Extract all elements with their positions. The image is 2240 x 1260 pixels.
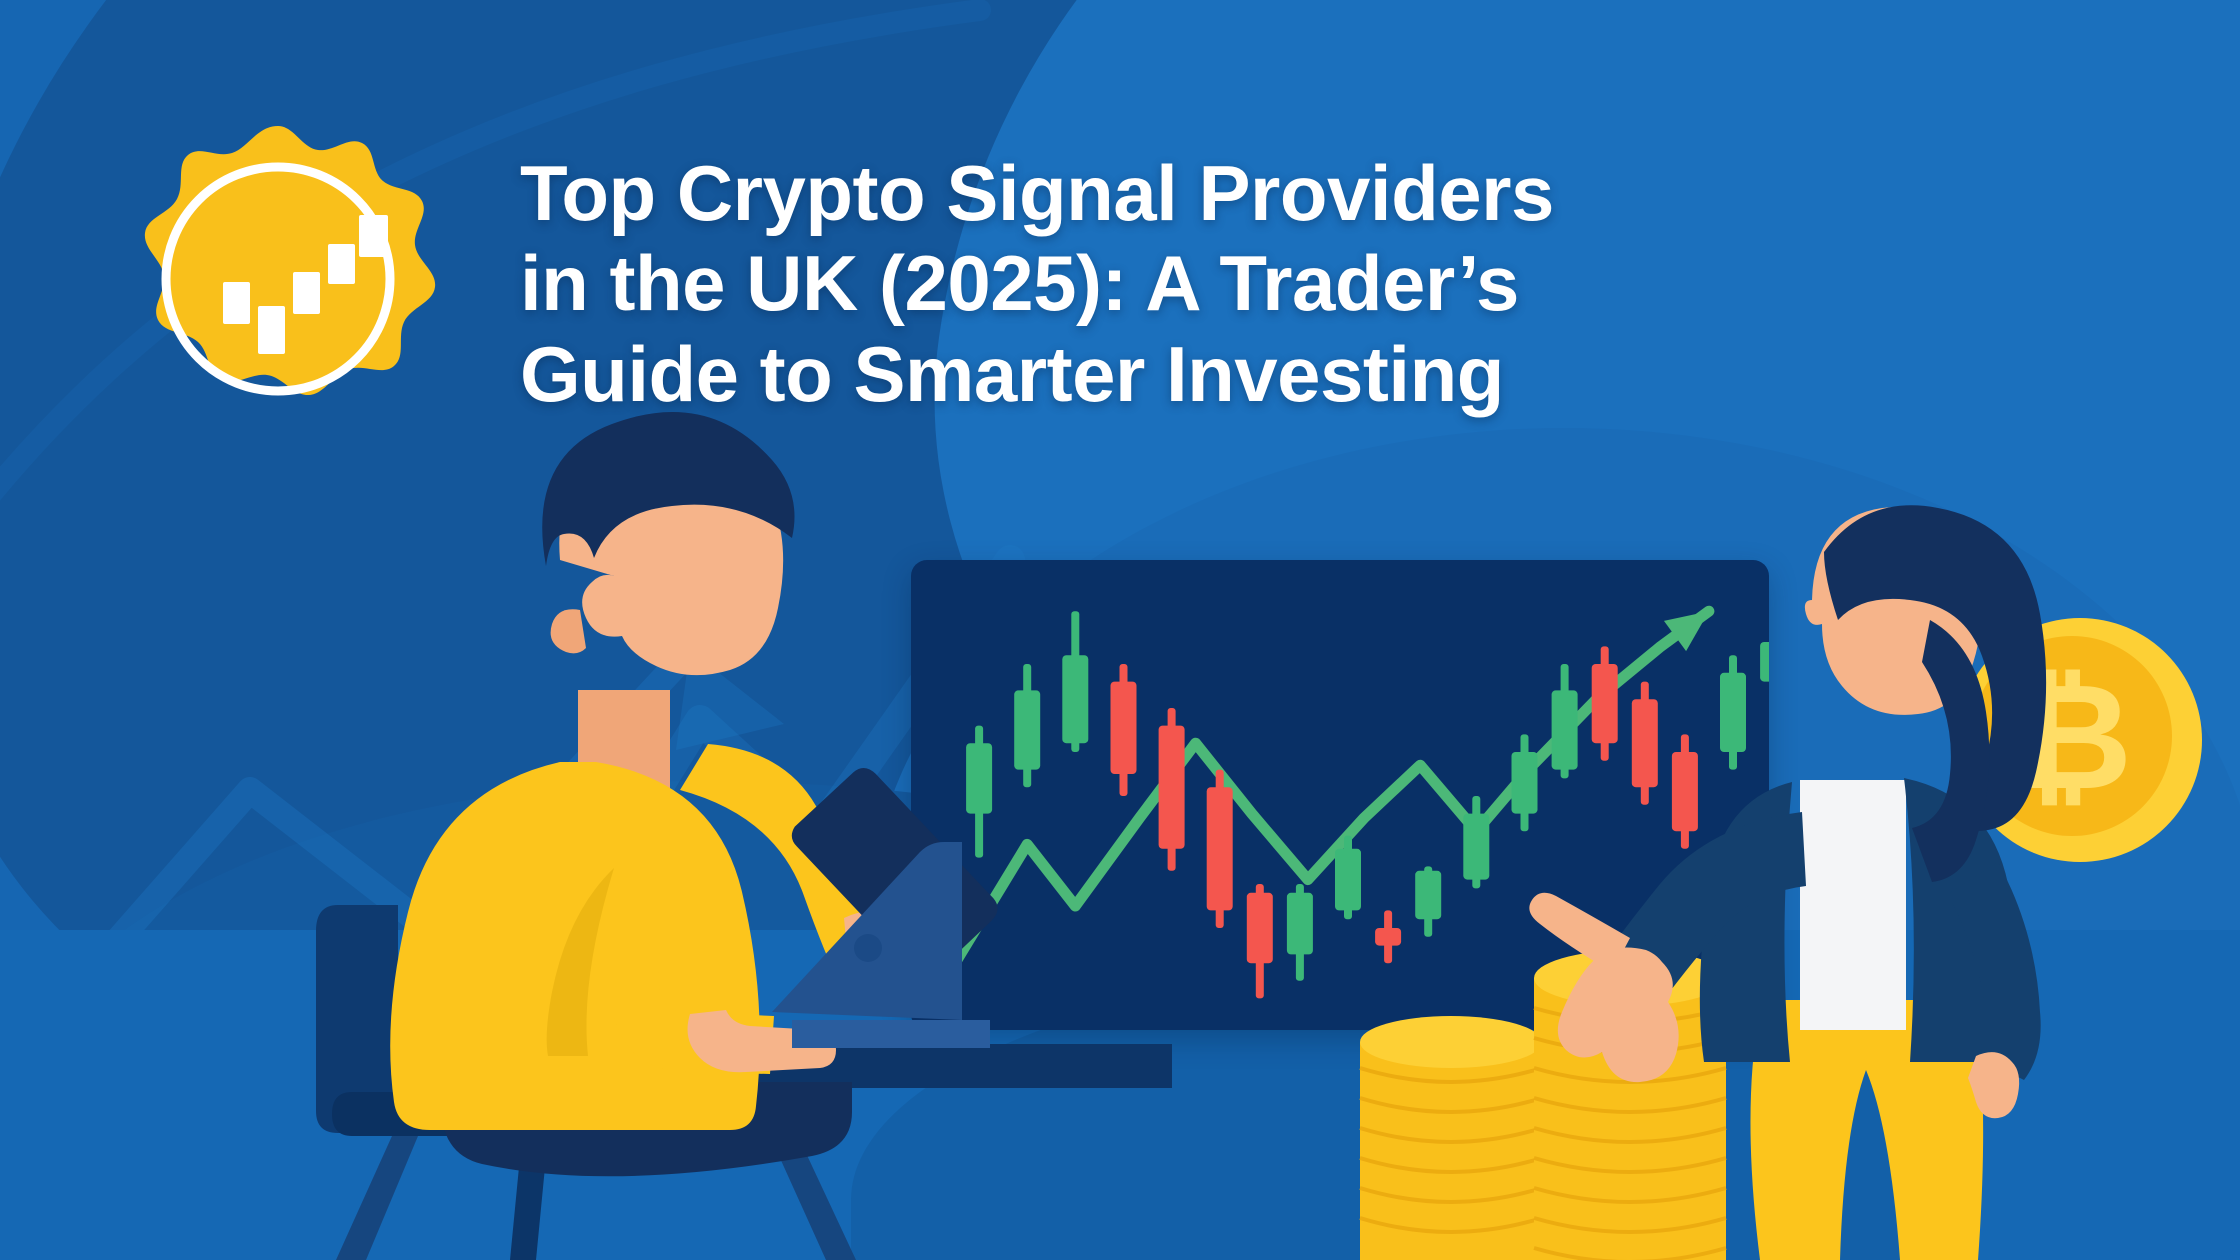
candlestick-down: [1632, 682, 1658, 805]
candle-body: [1335, 849, 1361, 911]
candlestick-down: [1111, 664, 1137, 796]
candle-body: [1287, 893, 1313, 955]
candlestick-down: [1159, 708, 1185, 871]
candlestick-up: [966, 726, 992, 858]
candlestick-up: [1552, 664, 1578, 778]
candlestick-up: [1062, 611, 1088, 752]
candle-body: [1062, 655, 1088, 743]
candle-body: [1375, 928, 1401, 946]
candlestick-up: [1720, 655, 1746, 769]
candle-body: [1592, 664, 1618, 743]
banner-canvas: Top Crypto Signal Providers in the UK (2…: [0, 0, 2240, 1260]
title-line-3: Guide to Smarter Investing: [520, 329, 2080, 419]
candlestick-up: [1512, 734, 1538, 831]
candlestick-down: [1375, 910, 1401, 963]
candle-body: [1512, 752, 1538, 814]
candlestick-up: [1760, 629, 1769, 699]
candlestick-chart-board: [911, 560, 1769, 1030]
candle-body: [1159, 726, 1185, 849]
candlestick-up: [1415, 866, 1441, 936]
candle-body: [1207, 787, 1233, 910]
candlestick-down: [1207, 770, 1233, 928]
candle-body: [1247, 893, 1273, 963]
title-line-2: in the UK (2025): A Trader’s: [520, 238, 2080, 328]
candle-body: [1415, 871, 1441, 919]
candle-body: [1463, 814, 1489, 880]
sunburst-candlestick-badge: [92, 120, 464, 438]
candlestick-up: [1014, 664, 1040, 787]
candle-body: [1632, 699, 1658, 787]
candle-body: [1760, 642, 1769, 682]
candle-body: [966, 743, 992, 813]
candle-body: [1111, 682, 1137, 774]
candle-body: [1720, 673, 1746, 752]
candle-body: [1672, 752, 1698, 831]
candlestick-up: [1463, 796, 1489, 888]
candlestick-chart: [911, 560, 1769, 1030]
candle-body: [1552, 690, 1578, 769]
candlestick-down: [1247, 884, 1273, 998]
candlestick-series: [966, 580, 1769, 998]
title-line-1: Top Crypto Signal Providers: [520, 148, 2080, 238]
candlestick-up: [1287, 884, 1313, 981]
page-title: Top Crypto Signal Providers in the UK (2…: [520, 148, 2080, 419]
candlestick-down: [1672, 734, 1698, 848]
candle-body: [1014, 690, 1040, 769]
candlestick-down: [1592, 646, 1618, 760]
